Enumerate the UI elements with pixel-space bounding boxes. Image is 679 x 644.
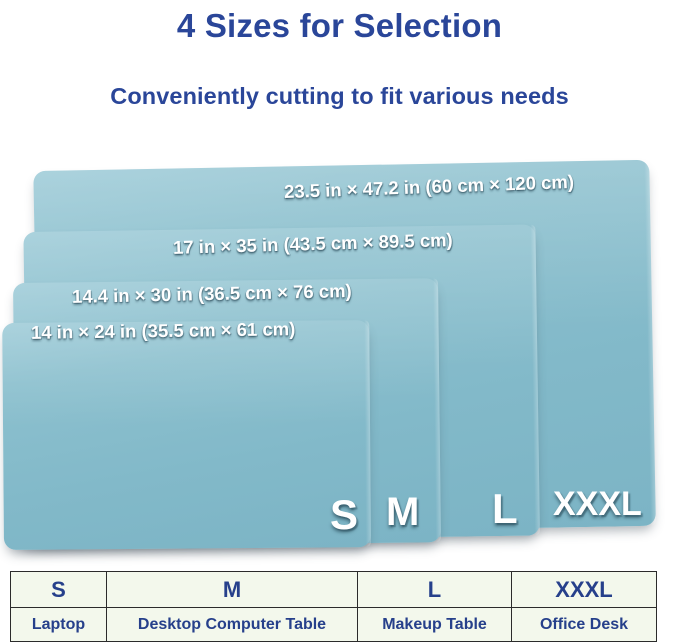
legend-size-s: S	[11, 572, 107, 608]
size-legend-table: S M L XXXL Laptop Desktop Computer Table…	[10, 571, 657, 642]
legend-use-l: Makeup Table	[358, 608, 512, 642]
legend-size-row: S M L XXXL	[11, 572, 657, 608]
legend-size-m: M	[107, 572, 358, 608]
legend-use-s: Laptop	[11, 608, 107, 642]
mat-s	[2, 320, 371, 550]
mat-stack-illustration: 23.5 in × 47.2 in (60 cm × 120 cm) 17 in…	[0, 0, 679, 560]
legend-use-m: Desktop Computer Table	[107, 608, 358, 642]
legend-size-xxxl: XXXL	[512, 572, 657, 608]
legend-use-xxxl: Office Desk	[512, 608, 657, 642]
legend-use-row: Laptop Desktop Computer Table Makeup Tab…	[11, 608, 657, 642]
legend-size-l: L	[358, 572, 512, 608]
